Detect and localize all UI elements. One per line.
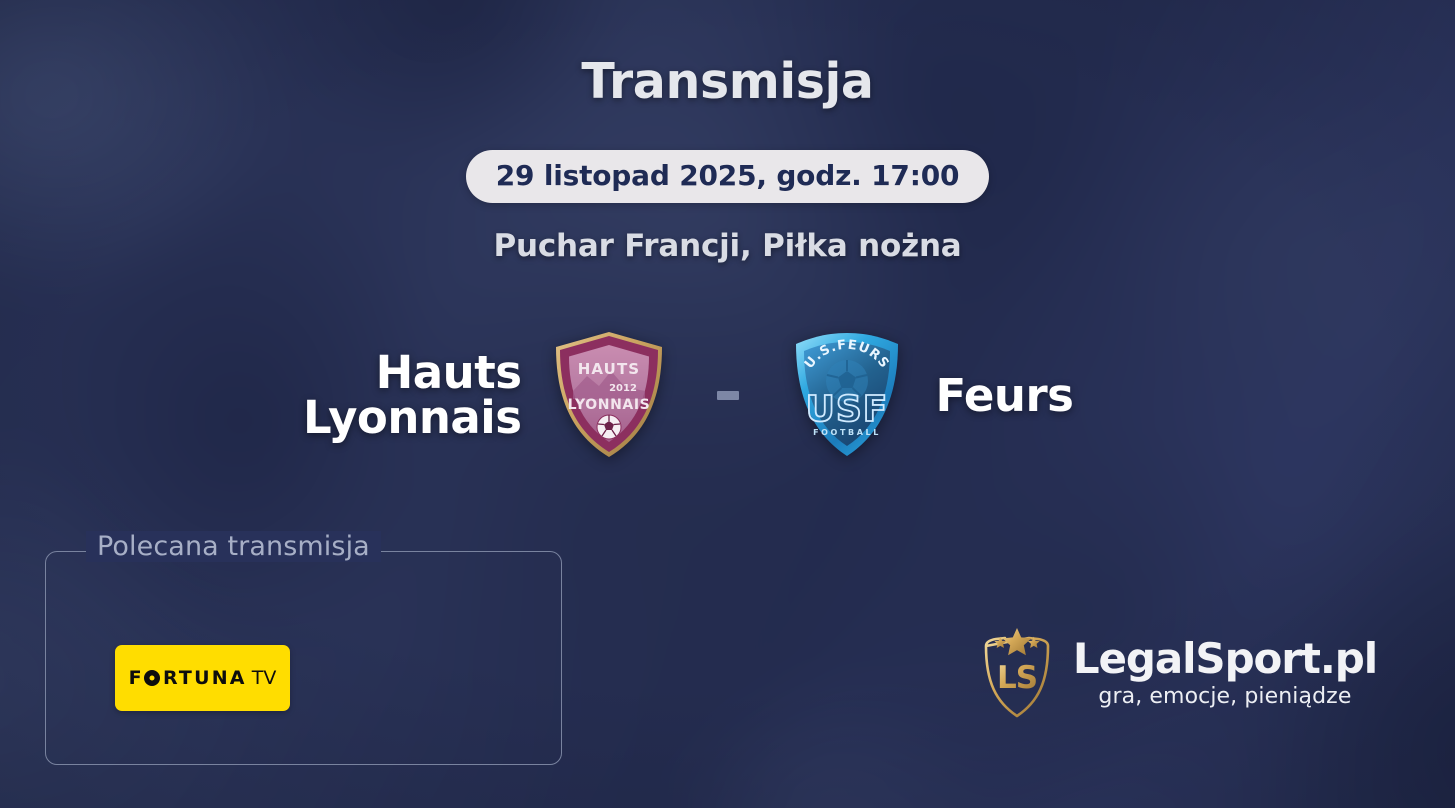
svg-text:LYONNAIS: LYONNAIS (567, 397, 650, 413)
match-row: Hauts Lyonnais (0, 300, 1455, 490)
legalsport-wordmark: LegalSport.pl gra, emocje, pieniądze (1073, 637, 1377, 710)
fortuna-letter-f: F (129, 669, 144, 688)
fortuna-tv-suffix: TV (252, 669, 277, 688)
fortuna-letters-rtuna: RTUNA (163, 669, 247, 688)
legalsport-logo[interactable]: LS LegalSport.pl gra, emocje, pieniądze (978, 626, 1377, 722)
competition-label: Puchar Francji, Piłka nożna (0, 228, 1455, 264)
away-team-name: Feurs (912, 373, 1168, 418)
fortuna-tv-button[interactable]: F RTUNA TV (115, 645, 290, 711)
home-team-name: Hauts Lyonnais (288, 350, 544, 440)
recommended-broadcast-panel: Polecana transmisja F RTUNA TV (45, 551, 562, 765)
separator-dash (717, 391, 739, 400)
svg-text:USF: USF (805, 389, 888, 430)
broadcast-panel-legend: Polecana transmisja (86, 531, 381, 562)
brand-name: LegalSport.pl (1073, 637, 1377, 681)
svg-text:LS: LS (997, 660, 1037, 696)
svg-text:FOOTBALL: FOOTBALL (813, 428, 881, 437)
score-separator (674, 391, 782, 400)
match-datetime-badge: 29 listopad 2025, godz. 17:00 (466, 150, 990, 203)
away-crest-slot: U.S.FEURS USF FOOTBALL (782, 329, 912, 461)
svg-text:HAUTS: HAUTS (577, 360, 639, 378)
fortuna-letter-o-dot-icon (144, 670, 160, 686)
fortuna-tv-logo: F RTUNA TV (129, 669, 277, 688)
match-datetime-container: 29 listopad 2025, godz. 17:00 (0, 150, 1455, 203)
home-crest-slot: HAUTS 2012 LYONNAIS (544, 329, 674, 461)
page-title: Transmisja (0, 53, 1455, 110)
svg-text:2012: 2012 (609, 383, 637, 394)
fortuna-wordmark: F RTUNA (129, 669, 247, 688)
broadcast-promo-card: Transmisja 29 listopad 2025, godz. 17:00… (0, 0, 1455, 808)
legalsport-shield-icon: LS (978, 626, 1056, 722)
us-feurs-crest-icon: U.S.FEURS USF FOOTBALL (788, 329, 906, 461)
hauts-lyonnais-crest-icon: HAUTS 2012 LYONNAIS (549, 329, 669, 461)
brand-tagline: gra, emocje, pieniądze (1073, 684, 1377, 710)
